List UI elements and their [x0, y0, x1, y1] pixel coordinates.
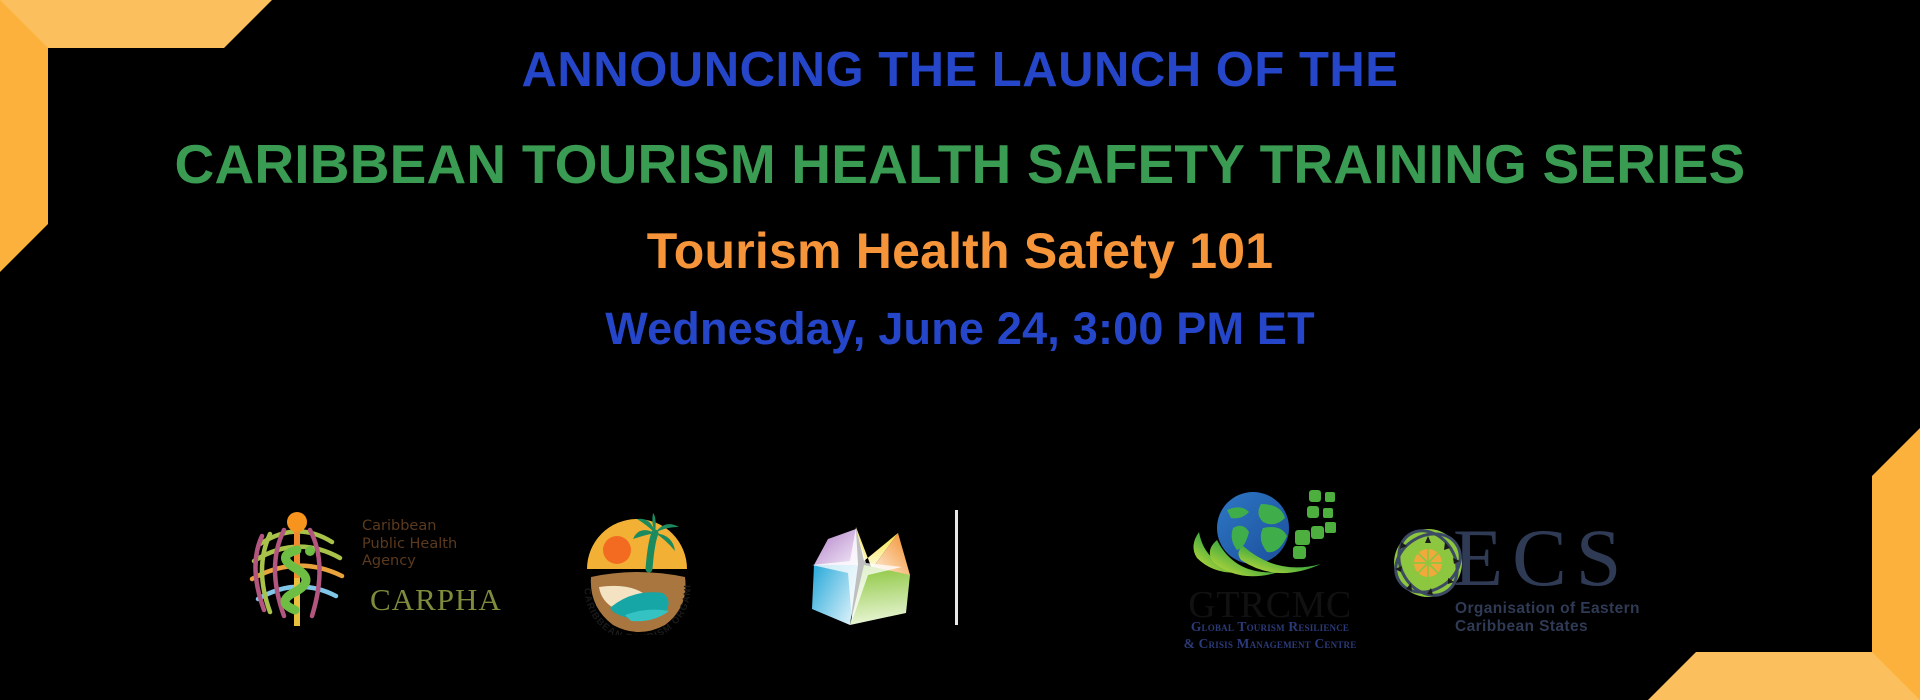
bottom-right-corner-bar: [1648, 652, 1920, 700]
oecs-subtitle: Organisation of Eastern Caribbean States: [1455, 600, 1660, 636]
carpha-name-line-2: Public Health: [362, 536, 512, 554]
carpha-acronym: CARPHA: [370, 582, 502, 618]
carpha-name-block: Caribbean Public Health Agency: [362, 518, 512, 571]
logo-gtrcmc: GTRCMC Global Tourism Resilience & Crisi…: [1175, 488, 1365, 648]
course-title: Tourism Health Safety 101: [0, 222, 1920, 280]
carpha-name-line-3: Agency: [362, 553, 512, 571]
event-announcement-banner: ANNOUNCING THE LAUNCH OF THE CARIBBEAN T…: [0, 0, 1920, 700]
logo-chta-star: [790, 515, 935, 630]
logo-carpha: Caribbean Public Health Agency CARPHA: [240, 500, 510, 630]
logo-caribbean-tourism-organization: CARIBBEAN TOURISM ORGANIZATION: [565, 495, 710, 635]
cto-sun-palm-beach-icon: CARIBBEAN TOURISM ORGANIZATION: [565, 495, 710, 635]
logo-divider: [955, 510, 958, 625]
gtrcmc-subtitle-line-2: & Crisis Management Centre: [1175, 636, 1365, 652]
multicolor-star-icon: [790, 515, 935, 630]
event-datetime: Wednesday, June 24, 3:00 PM ET: [0, 303, 1920, 355]
logo-oecs: ECS Organisation of Eastern Caribbean St…: [1385, 512, 1660, 622]
gtrcmc-subtitle-line-1: Global Tourism Resilience: [1175, 619, 1365, 635]
oecs-letters: ECS: [1453, 512, 1630, 604]
partner-logo-strip: Caribbean Public Health Agency CARPHA: [0, 400, 1920, 580]
series-title: CARIBBEAN TOURISM HEALTH SAFETY TRAINING…: [0, 132, 1920, 196]
gtrcmc-globe-leaf-icon: [1175, 488, 1365, 588]
carpha-name-line-1: Caribbean: [362, 518, 512, 536]
announce-line: ANNOUNCING THE LAUNCH OF THE: [0, 42, 1920, 98]
carpha-globe-caduceus-icon: [240, 506, 355, 626]
